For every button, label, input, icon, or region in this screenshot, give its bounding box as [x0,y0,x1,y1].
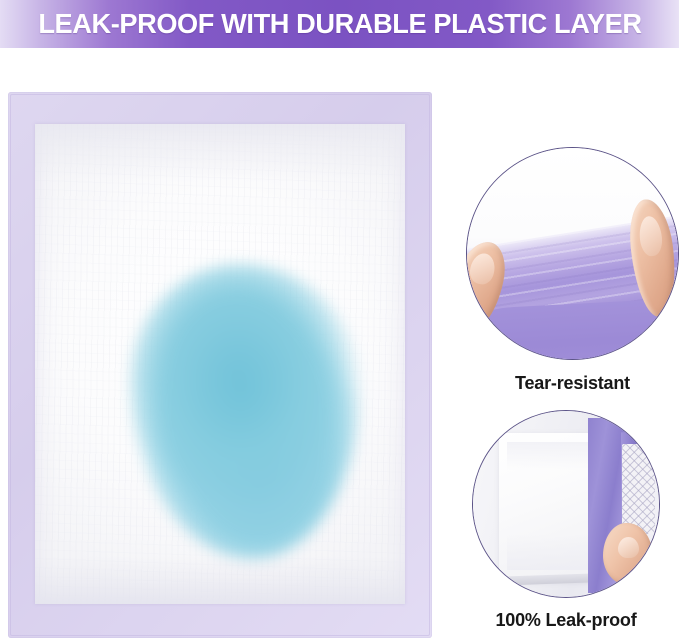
feature-panel-leak-proof: 100% Leak-proof [472,410,660,631]
stain-blob-shape [130,264,360,559]
underpad-purple-border [8,92,432,638]
sheet-lower-fold [470,299,676,360]
thumbnail [618,537,639,558]
white-absorbent-sheet [499,433,596,578]
tear-resistant-photo [466,147,679,360]
underpad-white-surface [35,124,405,604]
feature-label-leak-proof: 100% Leak-proof [472,610,660,631]
absorbed-liquid-stain [130,264,360,559]
fingernail [468,251,498,285]
product-feature-image: LEAK-PROOF WITH DURABLE PLASTIC LAYER [0,0,679,638]
feature-panel-tear-resistant: Tear-resistant [466,147,679,394]
fingernail [637,214,663,256]
feature-label-tear-resistant: Tear-resistant [466,373,679,394]
quilted-texture-patch [622,444,655,533]
stain-fiber-texture [130,264,360,559]
surface-shading-overlay [35,124,405,604]
leak-proof-photo [472,410,660,598]
hand-holding-backing [603,523,651,586]
fabric-texture-overlay [35,124,405,604]
headline-banner: LEAK-PROOF WITH DURABLE PLASTIC LAYER [0,0,679,48]
stain-dark-core [162,299,328,517]
banner-title: LEAK-PROOF WITH DURABLE PLASTIC LAYER [38,10,641,38]
main-product-photo [8,92,432,638]
